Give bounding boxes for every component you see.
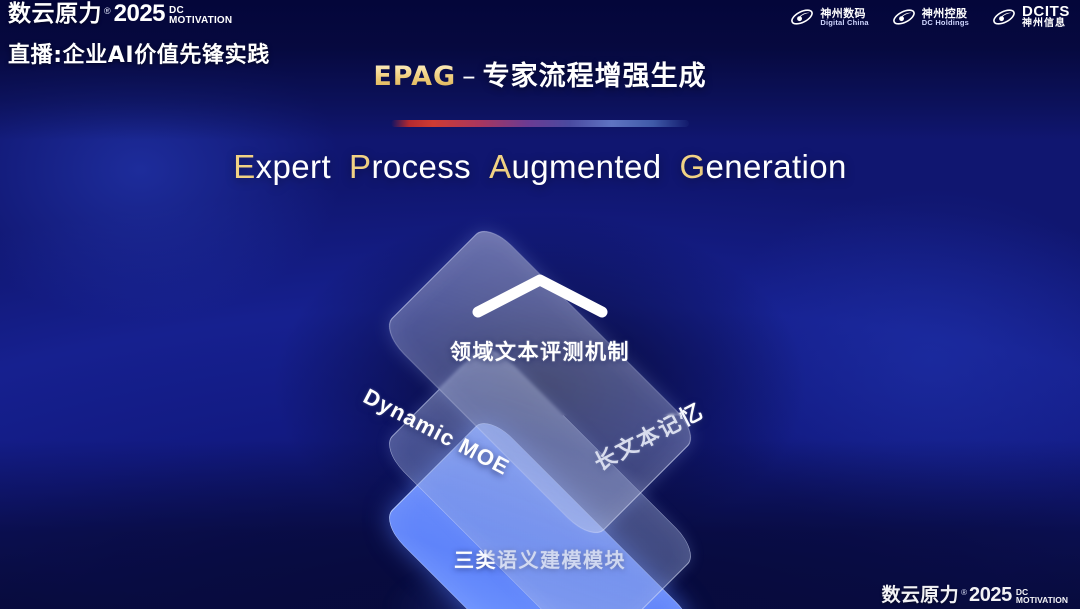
swirl-logo-icon (789, 4, 815, 30)
diagram-layer-top-plate (380, 222, 700, 542)
subtitle-cap-p: P (349, 148, 371, 185)
subtitle-word-augmented: Augmented (489, 148, 661, 186)
footer-brand-cn: 数云原力 (881, 586, 959, 605)
brand-lockup: 数云原力 ® 2025 DC MOTIVATION (8, 2, 270, 26)
subtitle-rest-augmented: ugmented (511, 148, 661, 185)
partner-logo-row: 神州数码 Digital China 神州控股 DC Holdings (789, 4, 1070, 30)
swirl-logo-icon (891, 4, 917, 30)
subtitle-word-process: Process (349, 148, 471, 186)
footer-watermark: 数云原力 ® 2025 DC MOTIVATION (881, 585, 1068, 605)
subtitle-cap-a: A (489, 148, 511, 185)
header-brand-block: 数云原力 ® 2025 DC MOTIVATION 直播:企业AI价值先锋实践 (8, 2, 270, 69)
subtitle-rest-process: rocess (371, 148, 471, 185)
subtitle-rest-expert: xpert (256, 148, 331, 185)
subtitle-word-expert: Expert (233, 148, 331, 186)
swirl-logo-icon (991, 4, 1017, 30)
logo-dcits-text: DCITS 神州信息 (1022, 4, 1070, 29)
brand-name-cn: 数云原力 (8, 3, 102, 26)
footer-registered: ® (961, 588, 967, 597)
logo-digital-china-en: Digital China (820, 19, 868, 27)
logo-digital-china: 神州数码 Digital China (789, 4, 868, 30)
logo-digital-china-text: 神州数码 Digital China (820, 8, 868, 27)
slide-canvas: 数云原力 ® 2025 DC MOTIVATION 直播:企业AI价值先锋实践 … (0, 0, 1080, 609)
chevron-up-icon (470, 272, 610, 318)
footer-year: 2025 (969, 585, 1012, 605)
subtitle-word-generation: Generation (679, 148, 846, 186)
footer-motivation-text: MOTIVATION (1016, 596, 1068, 604)
diagram-layer-top[interactable]: 领域文本评测机制 (340, 232, 740, 609)
logo-dcits: DCITS 神州信息 (991, 4, 1070, 30)
brand-motivation-text: MOTIVATION (169, 16, 232, 26)
footer-dc-motivation: DC MOTIVATION (1016, 588, 1068, 605)
title-divider-rule (391, 120, 689, 127)
slide-title-dash: – (456, 61, 483, 92)
subtitle-cap-g: G (679, 148, 705, 185)
brand-registered-mark: ® (104, 7, 111, 16)
live-stream-title: 直播:企业AI价值先锋实践 (8, 37, 270, 69)
brand-year: 2025 (114, 2, 165, 26)
slide-title-cn: 专家流程增强生成 (483, 61, 707, 92)
diagram-layer-top-label: 领域文本评测机制 (450, 336, 630, 366)
subtitle-cap-e: E (233, 148, 255, 185)
logo-dc-holdings-text: 神州控股 DC Holdings (922, 8, 969, 27)
layered-architecture-diagram: 三类语义建模模块 Dynamic MOE 长文本记忆 领域文本评测机制 (290, 232, 790, 582)
logo-dc-holdings-en: DC Holdings (922, 19, 969, 27)
subtitle-rest-generation: eneration (706, 148, 847, 185)
logo-dcits-cn: 神州信息 (1022, 19, 1070, 29)
slide-subtitle: ExpertProcessAugmentedGeneration (0, 148, 1080, 186)
slide-title-abbr: EPAG (373, 61, 456, 92)
brand-dc-motivation: DC MOTIVATION (169, 6, 232, 26)
logo-dc-holdings: 神州控股 DC Holdings (891, 4, 969, 30)
